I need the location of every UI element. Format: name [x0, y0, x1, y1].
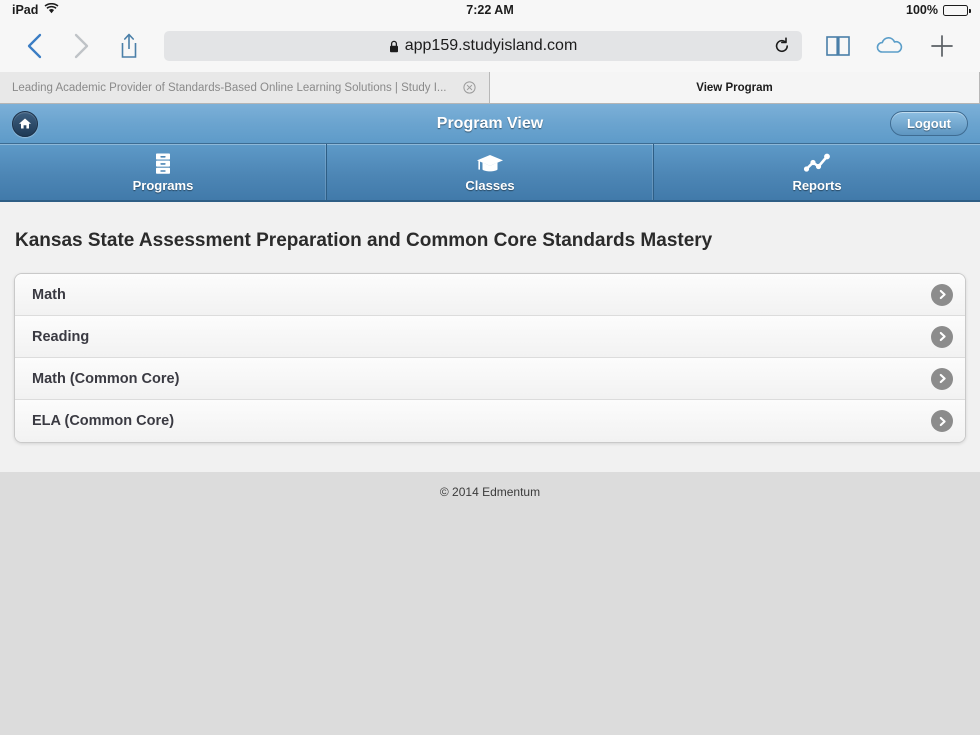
list-item[interactable]: ELA (Common Core) — [15, 400, 965, 442]
browser-tab-2[interactable]: View Program — [490, 72, 980, 103]
icloud-tabs-button[interactable] — [866, 26, 914, 66]
reload-icon — [773, 37, 791, 55]
forward-button[interactable] — [60, 26, 102, 66]
chevron-right-icon[interactable] — [931, 284, 953, 306]
tab-reports[interactable]: Reports — [654, 144, 980, 200]
battery-percent: 100% — [906, 3, 938, 17]
book-icon — [825, 34, 851, 58]
browser-tab-1-title: Leading Academic Provider of Standards-B… — [12, 82, 453, 94]
home-icon — [18, 117, 32, 130]
back-button[interactable] — [14, 26, 56, 66]
status-bar-right: 100% — [906, 3, 968, 17]
cloud-icon — [875, 35, 905, 57]
plus-icon — [929, 33, 955, 59]
browser-toolbar: app159.studyisland.com — [0, 20, 980, 72]
home-button[interactable] — [12, 111, 38, 137]
url-bar[interactable]: app159.studyisland.com — [164, 31, 802, 61]
browser-tab-1[interactable]: Leading Academic Provider of Standards-B… — [0, 72, 490, 103]
line-chart-icon — [803, 152, 831, 176]
list-item-label: Reading — [32, 329, 931, 345]
bookmarks-button[interactable] — [814, 26, 862, 66]
list-item-label: Math — [32, 287, 931, 303]
list-item[interactable]: Math — [15, 274, 965, 316]
ios-status-bar: iPad 7:22 AM 100% — [0, 0, 980, 20]
graduation-cap-icon — [476, 152, 504, 176]
list-item-label: ELA (Common Core) — [32, 413, 931, 429]
chevron-right-icon — [71, 32, 91, 60]
page-content: Kansas State Assessment Preparation and … — [0, 202, 980, 472]
chevron-right-icon[interactable] — [931, 326, 953, 348]
tab-classes-label: Classes — [465, 178, 514, 193]
lock-icon — [389, 40, 399, 53]
tab-reports-label: Reports — [792, 178, 841, 193]
main-navigation: Programs Classes Reports — [0, 144, 980, 202]
status-bar-time: 7:22 AM — [0, 3, 980, 17]
copyright-text: © 2014 Edmentum — [440, 485, 540, 499]
list-item-label: Math (Common Core) — [32, 371, 931, 387]
tab-programs-label: Programs — [133, 178, 194, 193]
logout-button[interactable]: Logout — [890, 111, 968, 136]
file-cabinet-icon — [152, 152, 174, 176]
share-button[interactable] — [106, 26, 152, 66]
chevron-right-icon[interactable] — [931, 410, 953, 432]
chevron-right-icon[interactable] — [931, 368, 953, 390]
new-tab-button[interactable] — [918, 26, 966, 66]
url-display: app159.studyisland.com — [389, 37, 578, 55]
page-title-header: Program View — [0, 115, 980, 133]
page-title: Kansas State Assessment Preparation and … — [14, 230, 966, 252]
program-list: Math Reading Math (Common Core) ELA (Com… — [14, 273, 966, 443]
page-footer: © 2014 Edmentum — [0, 472, 980, 735]
share-icon — [118, 32, 140, 60]
reload-button[interactable] — [770, 34, 794, 58]
browser-tab-bar: Leading Academic Provider of Standards-B… — [0, 72, 980, 104]
list-item[interactable]: Math (Common Core) — [15, 358, 965, 400]
tab-classes[interactable]: Classes — [327, 144, 654, 200]
list-item[interactable]: Reading — [15, 316, 965, 358]
tab-programs[interactable]: Programs — [0, 144, 327, 200]
chevron-left-icon — [25, 32, 45, 60]
battery-icon — [943, 5, 968, 16]
url-text: app159.studyisland.com — [405, 37, 578, 55]
browser-tab-2-title: View Program — [502, 82, 967, 94]
close-icon[interactable] — [461, 80, 477, 96]
app-header: Program View Logout — [0, 104, 980, 144]
